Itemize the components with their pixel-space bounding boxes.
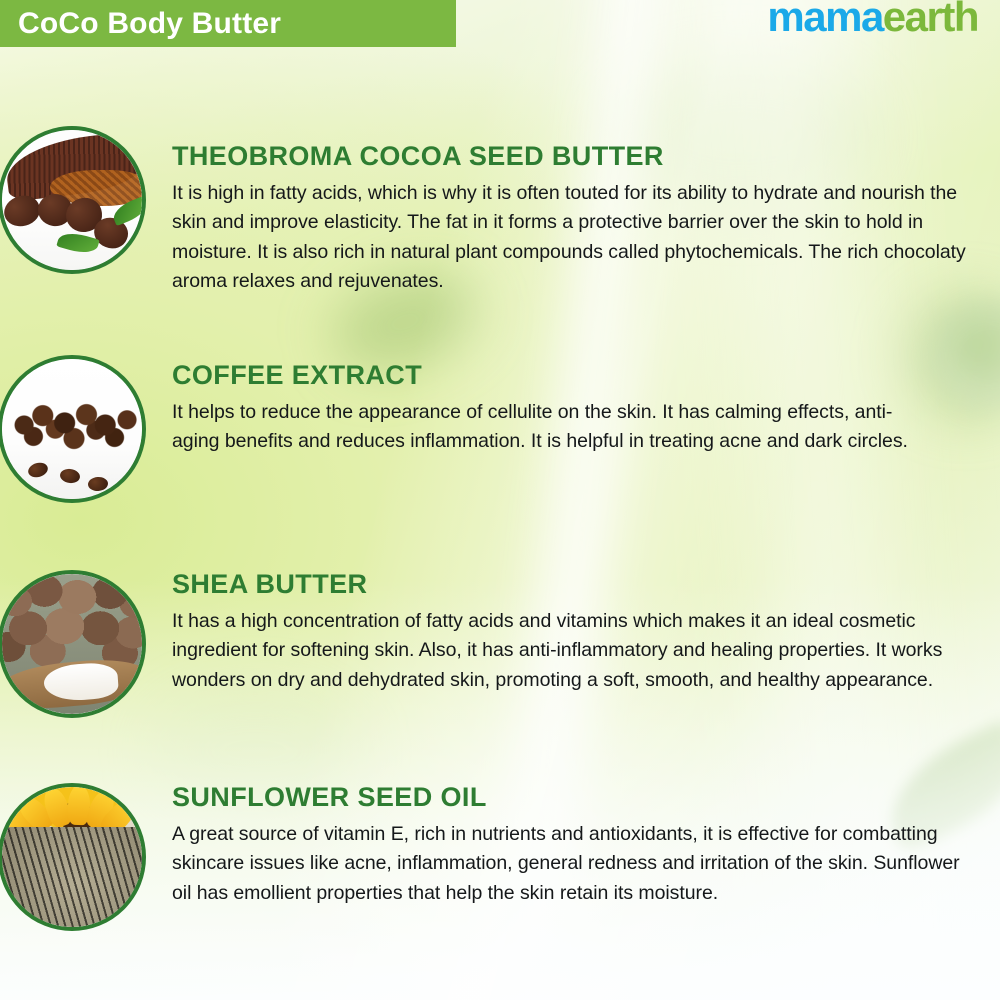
coffee-bean-pile-shape <box>2 399 142 451</box>
sunflower-photo <box>2 787 142 927</box>
product-title-bar: CoCo Body Butter <box>0 0 456 47</box>
ingredient-image-cocoa <box>0 126 146 274</box>
ingredient-description: A great source of vitamin E, rich in nut… <box>172 820 980 909</box>
ingredient-heading: THEOBROMA COCOA SEED BUTTER <box>172 142 972 172</box>
ingredient-image-shea <box>0 570 146 718</box>
ingredient-text-block: COFFEE EXTRACT It helps to reduce the ap… <box>172 361 912 457</box>
logo-text-earth: earth <box>883 0 978 40</box>
ingredient-image-coffee <box>0 355 146 503</box>
ingredient-text-block: THEOBROMA COCOA SEED BUTTER It is high i… <box>172 142 972 297</box>
logo-text-mama: mama <box>767 0 882 40</box>
coffee-photo <box>2 359 142 499</box>
mamaearth-logo: mamaearth <box>767 0 978 38</box>
ingredient-heading: SHEA BUTTER <box>172 570 972 600</box>
ingredient-heading: SUNFLOWER SEED OIL <box>172 783 980 813</box>
coffee-bean-shape <box>26 461 49 480</box>
ingredient-heading: COFFEE EXTRACT <box>172 361 912 391</box>
page-title: CoCo Body Butter <box>0 9 281 39</box>
coffee-bean-shape <box>88 476 109 491</box>
ingredient-description: It has a high concentration of fatty aci… <box>172 607 972 696</box>
coffee-bean-shape <box>59 468 81 485</box>
ingredient-description: It helps to reduce the appearance of cel… <box>172 398 912 457</box>
ingredient-text-block: SUNFLOWER SEED OIL A great source of vit… <box>172 783 980 908</box>
cocoa-photo <box>2 130 142 270</box>
shea-nuts-shape <box>2 574 142 674</box>
infographic-canvas: CoCo Body Butter mamaearth THEOBROMA COC… <box>0 0 1000 1000</box>
ingredient-description: It is high in fatty acids, which is why … <box>172 179 972 297</box>
ingredient-image-sunflower <box>0 783 146 931</box>
sunflower-seeds-shape <box>2 827 142 927</box>
ingredient-text-block: SHEA BUTTER It has a high concentration … <box>172 570 972 695</box>
shea-photo <box>2 574 142 714</box>
